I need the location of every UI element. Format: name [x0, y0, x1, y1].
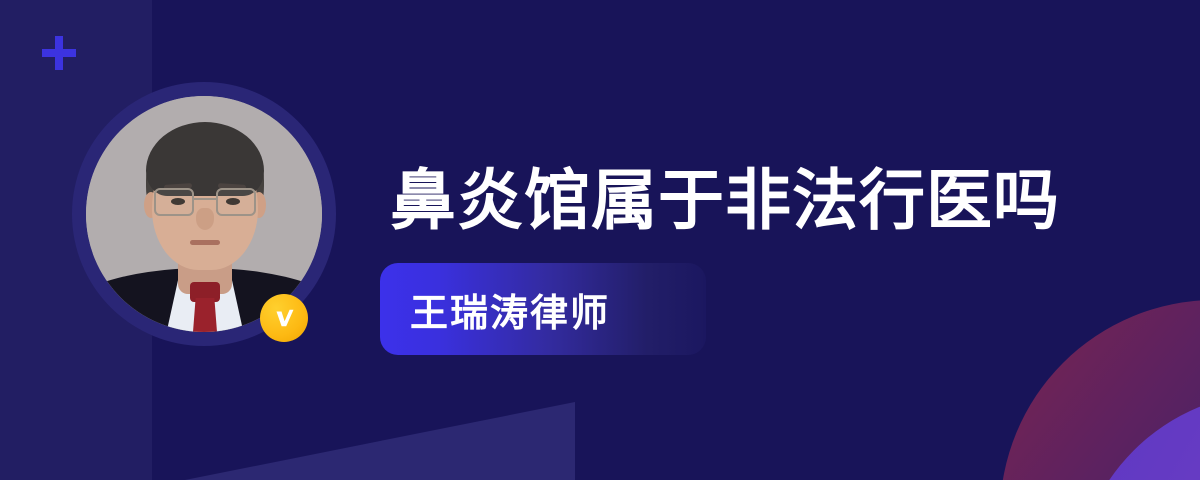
decorative-triangle [185, 402, 575, 480]
verified-badge-icon [260, 294, 308, 342]
lawyer-name-label: 王瑞涛律师 [380, 282, 610, 337]
lawyer-name-badge[interactable]: 王瑞涛律师 [380, 263, 706, 355]
plus-icon [42, 36, 76, 70]
page-title: 鼻炎馆属于非法行医吗 [390, 160, 1060, 240]
lawyer-article-banner: 鼻炎馆属于非法行医吗 王瑞涛律师 [0, 0, 1200, 480]
